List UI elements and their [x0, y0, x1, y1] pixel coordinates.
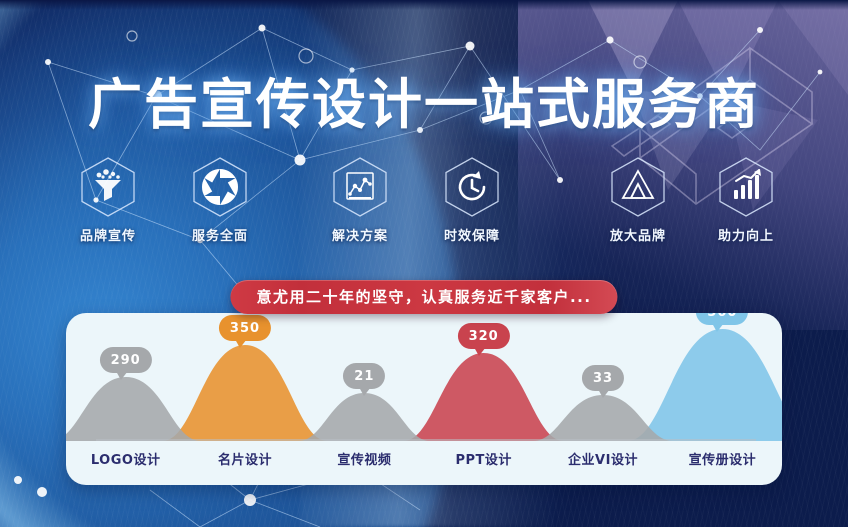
- value-bubble-text: 560: [707, 313, 737, 320]
- area-chart: [66, 313, 782, 453]
- page-title: 广告宣传设计一站式服务商: [0, 60, 848, 139]
- chart-x-label: 宣传视频: [337, 449, 391, 468]
- chart-x-label: 名片设计: [218, 449, 272, 468]
- value-bubble-text: 21: [354, 369, 374, 384]
- feature-item-solutions[interactable]: 解决方案: [312, 156, 408, 244]
- chart-card: 2903502132033560 LOGO设计名片设计宣传视频PPT设计企业VI…: [66, 313, 782, 485]
- chart-area-1: [163, 345, 328, 441]
- chart-x-label: 宣传册设计: [689, 449, 757, 468]
- feature-icon-row: 品牌宣传 服务全面: [0, 156, 848, 248]
- chart-area-4: [533, 395, 673, 441]
- feature-label: 助力向上: [698, 225, 794, 244]
- top-fade: [0, 0, 848, 10]
- clock-rotate-icon: [443, 156, 501, 218]
- chart-x-label: LOGO设计: [91, 449, 161, 468]
- value-bubble-text: 350: [230, 321, 260, 336]
- feature-label: 放大品牌: [590, 225, 686, 244]
- chart-area-3: [404, 353, 564, 441]
- aperture-icon: [191, 156, 249, 218]
- triangle-pyramid-icon: [609, 156, 667, 218]
- feature-label: 时效保障: [424, 225, 520, 244]
- bar-growth-icon: [717, 156, 775, 218]
- feature-label: 服务全面: [172, 225, 268, 244]
- chart-area-2: [298, 393, 430, 441]
- value-bubble: 33: [582, 365, 624, 391]
- slogan-banner: 意尤用二十年的坚守，认真服务近千家客户...: [230, 280, 617, 314]
- scatter-chart-icon: [331, 156, 389, 218]
- feature-item-timeliness[interactable]: 时效保障: [424, 156, 520, 244]
- promo-banner: 广告宣传设计一站式服务商 品牌宣传: [0, 0, 848, 527]
- chart-x-label: 企业VI设计: [568, 449, 638, 468]
- feature-item-full-service[interactable]: 服务全面: [172, 156, 268, 244]
- value-bubble: 290: [100, 347, 152, 373]
- value-bubble-text: 320: [469, 329, 499, 344]
- feature-item-boost-upward[interactable]: 助力向上: [698, 156, 794, 244]
- value-bubble-text: 290: [111, 353, 141, 368]
- megaphone-icon: [79, 156, 137, 218]
- chart-x-axis-labels: LOGO设计名片设计宣传视频PPT设计企业VI设计宣传册设计: [66, 449, 782, 469]
- value-bubble: 560: [696, 313, 748, 325]
- value-bubble: 320: [458, 323, 510, 349]
- chart-area-5: [627, 329, 782, 441]
- feature-item-amplify-brand[interactable]: 放大品牌: [590, 156, 686, 244]
- feature-label: 品牌宣传: [60, 225, 156, 244]
- chart-area-0: [66, 377, 201, 441]
- chart-x-label: PPT设计: [455, 449, 511, 468]
- feature-label: 解决方案: [312, 225, 408, 244]
- chart-baseline: [96, 439, 756, 441]
- value-bubble: 21: [343, 363, 385, 389]
- feature-item-brand-promotion[interactable]: 品牌宣传: [60, 156, 156, 244]
- value-bubble-text: 33: [593, 371, 613, 386]
- value-bubble: 350: [219, 315, 271, 341]
